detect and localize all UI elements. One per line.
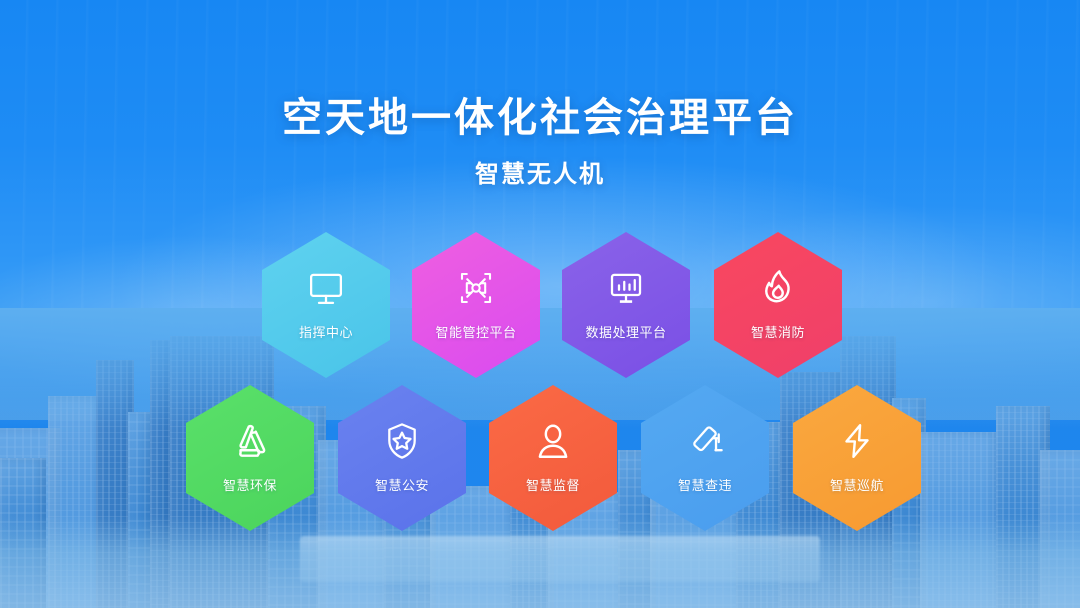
cctv-camera-icon (683, 419, 727, 463)
ground-haze (0, 516, 1080, 608)
page-title: 空天地一体化社会治理平台 (0, 96, 1080, 140)
tile-label: 智慧查违 (678, 475, 732, 494)
tile-label: 智慧巡航 (830, 475, 884, 494)
recycle-leaf-icon (228, 419, 272, 463)
lightning-bolt-icon (835, 419, 879, 463)
drone-icon (454, 266, 498, 310)
tile-label: 智慧公安 (375, 475, 429, 494)
tile-label: 数据处理平台 (585, 322, 666, 341)
person-icon (531, 419, 575, 463)
tile-label: 智慧环保 (223, 475, 277, 494)
title-block: 空天地一体化社会治理平台 智慧无人机 (0, 96, 1080, 189)
poster-stage: 空天地一体化社会治理平台 智慧无人机 指挥中心 智能管控平台 (0, 0, 1080, 608)
tile-label: 智慧消防 (751, 322, 805, 341)
shield-star-icon (380, 419, 424, 463)
page-subtitle: 智慧无人机 (0, 154, 1080, 189)
flame-icon (756, 266, 800, 310)
bar-chart-monitor-icon (604, 266, 648, 310)
tile-label: 智慧监督 (526, 475, 580, 494)
monitor-icon (304, 266, 348, 310)
tile-label: 指挥中心 (299, 322, 353, 341)
tile-label: 智能管控平台 (435, 322, 516, 341)
